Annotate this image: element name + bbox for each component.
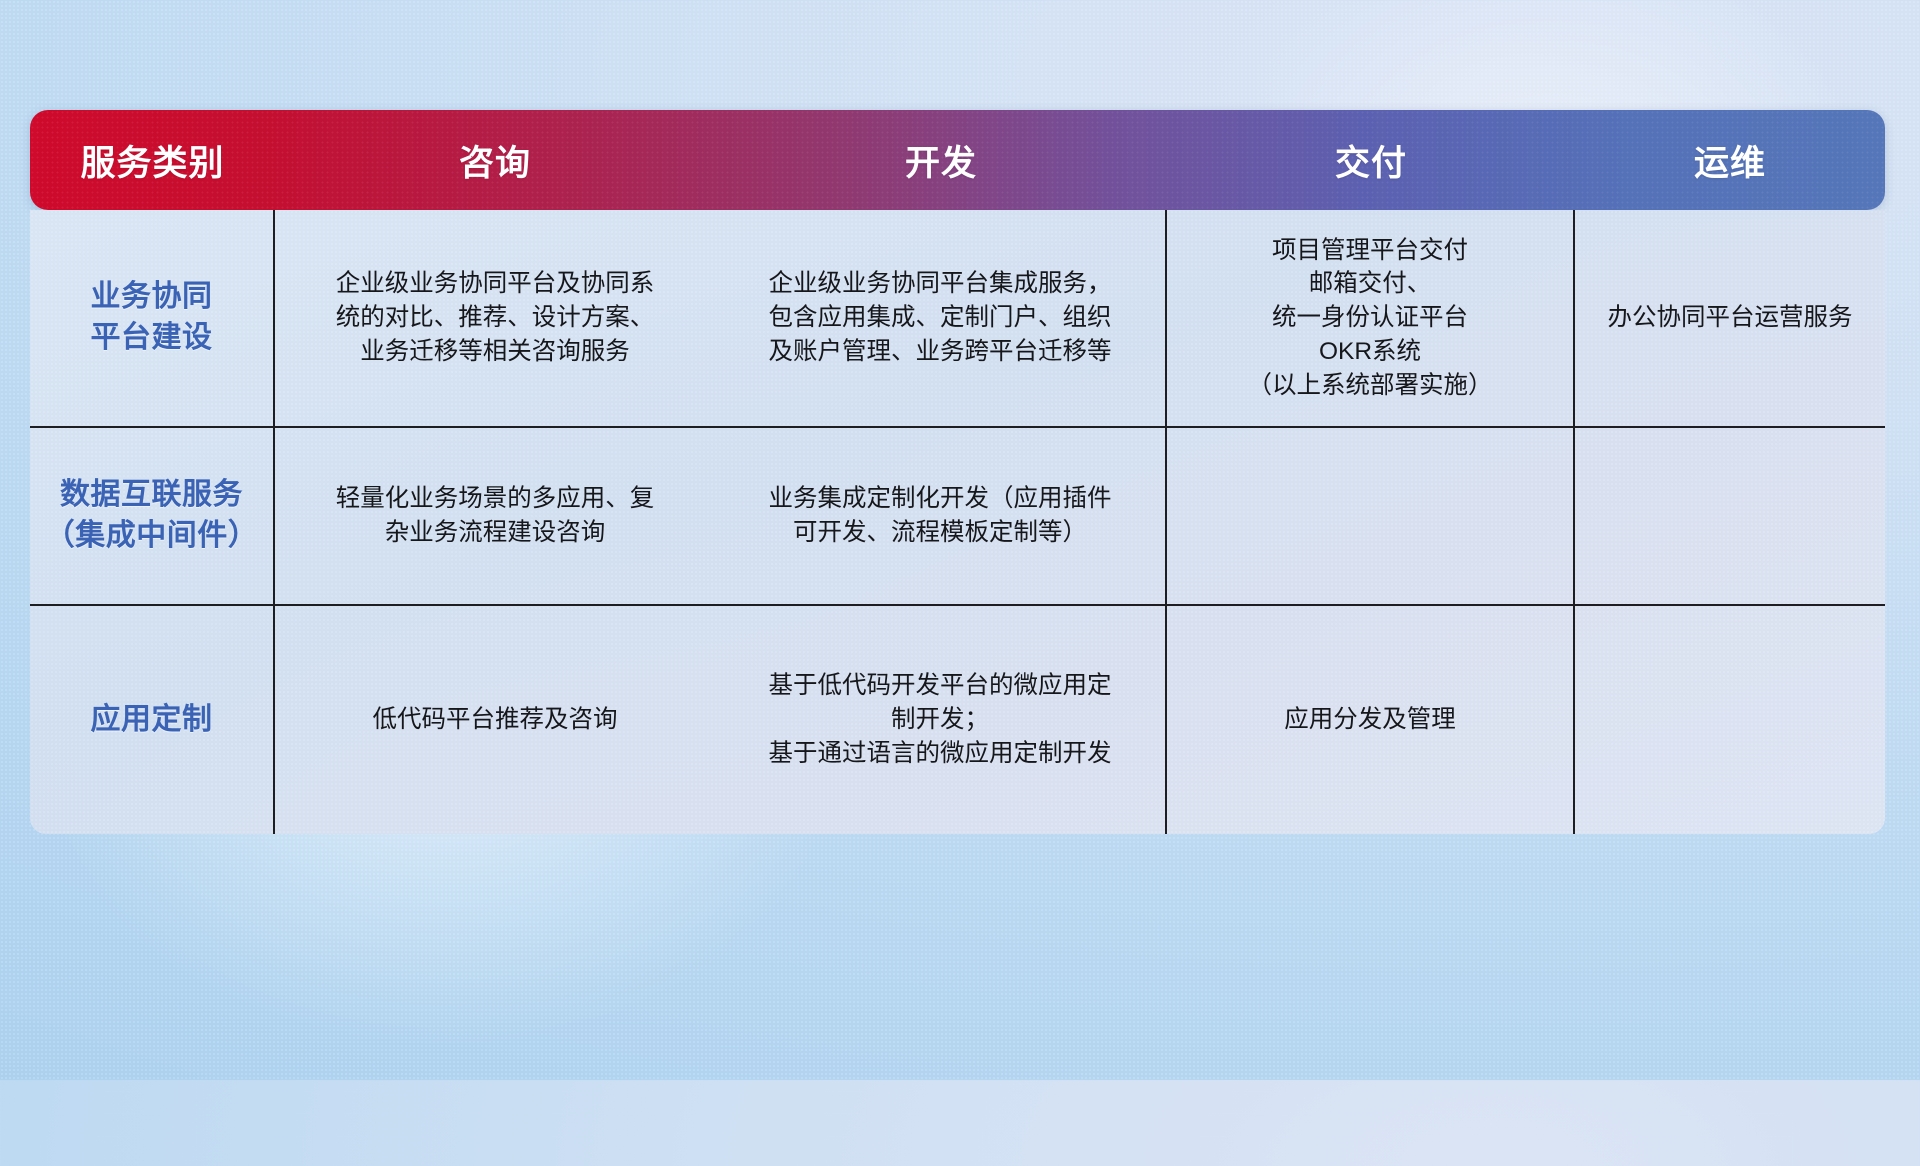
cell-operations [1575,606,1885,834]
table-row: 数据互联服务 （集成中间件） 轻量化业务场景的多应用、复 杂业务流程建设咨询 业… [30,426,1885,604]
table-row: 应用定制 低代码平台推荐及咨询 基于低代码开发平台的微应用定 制开发； 基于通过… [30,604,1885,834]
column-header-operations: 运维 [1575,110,1885,210]
table-row: 业务协同 平台建设 企业级业务协同平台及协同系 统的对比、推荐、设计方案、 业务… [30,210,1885,426]
column-header-delivery: 交付 [1167,110,1575,210]
row-category-label: 应用定制 [30,606,275,834]
table-header-row: 服务类别 咨询 开发 交付 运维 [30,110,1885,210]
row-category-label: 业务协同 平台建设 [30,210,275,426]
cell-operations: 办公协同平台运营服务 [1575,210,1885,426]
cell-development: 基于低代码开发平台的微应用定 制开发； 基于通过语言的微应用定制开发 [715,606,1167,834]
cell-development: 业务集成定制化开发（应用插件 可开发、流程模板定制等） [715,428,1167,604]
cell-delivery: 应用分发及管理 [1167,606,1575,834]
cell-consulting: 企业级业务协同平台及协同系 统的对比、推荐、设计方案、 业务迁移等相关咨询服务 [275,210,715,426]
column-header-consulting: 咨询 [275,110,715,210]
cell-delivery [1167,428,1575,604]
cell-consulting: 低代码平台推荐及咨询 [275,606,715,834]
table-body: 业务协同 平台建设 企业级业务协同平台及协同系 统的对比、推荐、设计方案、 业务… [30,210,1885,834]
service-matrix-table: 服务类别 咨询 开发 交付 运维 业务协同 平台建设 企业级业务协同平台及协同系… [30,110,1885,834]
cell-delivery: 项目管理平台交付 邮箱交付、 统一身份认证平台 OKR系统 （以上系统部署实施） [1167,210,1575,426]
column-header-development: 开发 [715,110,1167,210]
cell-operations [1575,428,1885,604]
cell-consulting: 轻量化业务场景的多应用、复 杂业务流程建设咨询 [275,428,715,604]
cell-development: 企业级业务协同平台集成服务， 包含应用集成、定制门户、组织 及账户管理、业务跨平… [715,210,1167,426]
row-category-label: 数据互联服务 （集成中间件） [30,428,275,604]
column-header-category: 服务类别 [30,110,275,210]
